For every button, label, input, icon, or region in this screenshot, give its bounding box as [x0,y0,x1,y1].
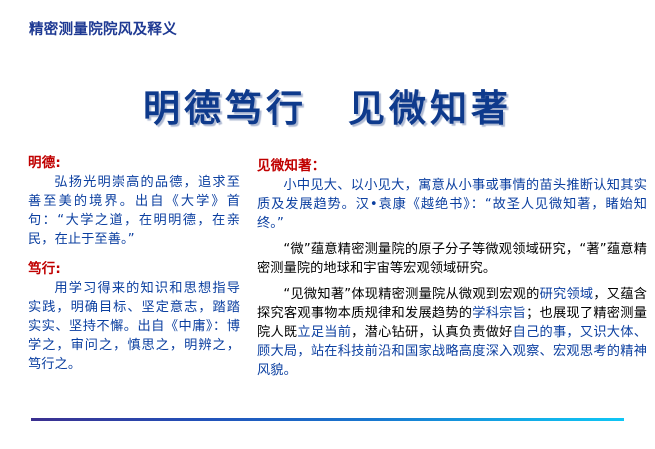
section-body-paragraph-1: 小中见大、以小见大，寓意从小事或事情的苗头推断认知其实质及发展趋势。汉•袁康《越… [257,176,647,233]
slide-canvas: 精密测量院院风及释义 明德笃行 见微知著 明德: 弘扬光明崇高的品德，追求至善至… [0,0,655,449]
section-heading-mingde: 明德: [28,154,240,172]
p3-part-4: ，潜心钻研，认真负责做好 [351,325,512,340]
p3-highlight-research-field: 研究领域 [540,287,594,302]
section-body-paragraph-3: “见微知著”体现精密测量院从微观到宏观的研究领域，又蕴含探究客观事物本质规律和发… [257,285,647,380]
section-body-paragraph-2: “微”蕴意精密测量院的原子分子等微观领域研究，“著”蕴意精密测量院的地球和宇宙等… [257,240,647,278]
section-heading-duxing: 笃行: [28,260,240,278]
left-column: 明德: 弘扬光明崇高的品德，追求至善至美的境界。出自《大学》首句：“大学之道，在… [28,154,240,374]
section-mingde: 明德: 弘扬光明崇高的品德，追求至善至美的境界。出自《大学》首句：“大学之道，在… [28,154,240,249]
section-body-duxing: 用学习得来的知识和思想指导实践，明确目标、坚定意志，踏踏实实、坚持不懈。出自《中… [28,279,240,374]
main-title: 明德笃行 见微知著 [0,78,655,132]
section-heading-jianweizhizhu: 见微知著： [257,157,647,175]
p3-highlight-discipline-aim: 学科宗旨 [472,306,526,321]
bottom-gradient-rule [31,418,624,421]
page-title: 精密测量院院风及释义 [29,22,177,39]
section-body-mingde: 弘扬光明崇高的品德，追求至善至美的境界。出自《大学》首句：“大学之道，在明明德，… [28,173,240,249]
section-duxing: 笃行: 用学习得来的知识和思想指导实践，明确目标、坚定意志，踏踏实实、坚持不懈。… [28,260,240,374]
right-column: 见微知著： 小中见大、以小见大，寓意从小事或事情的苗头推断认知其实质及发展趋势。… [257,157,647,380]
p3-highlight-present-focus: 立足当前 [297,325,351,340]
p3-part-1: “见微知著”体现精密测量院从微观到宏观的 [283,287,539,302]
